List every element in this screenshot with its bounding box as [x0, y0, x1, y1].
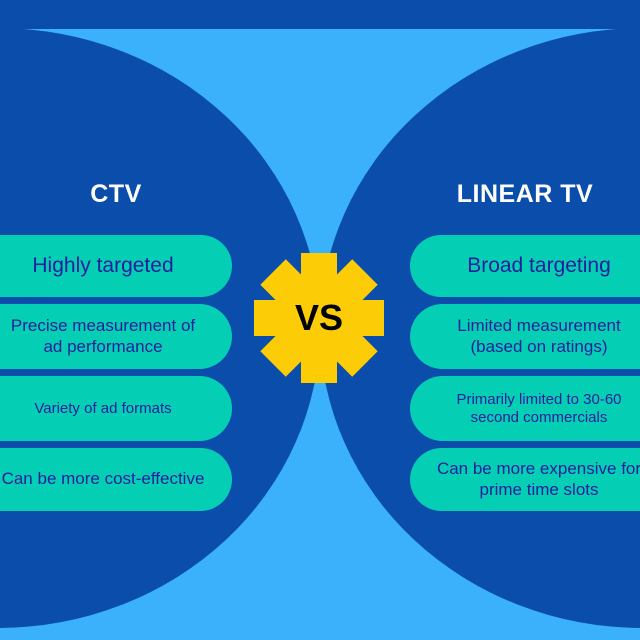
list-item: Primarily limited to 30-60 second commer… [410, 376, 640, 441]
list-item: Can be more expensive for prime time slo… [410, 448, 640, 511]
versus-badge: VS [254, 253, 384, 383]
comparison-infographic: CTV LINEAR TV Highly targeted Precise me… [0, 0, 640, 640]
left-column-list: Highly targeted Precise measurement of a… [0, 235, 232, 511]
right-column-title: LINEAR TV [410, 180, 640, 209]
list-item: Limited measurement (based on ratings) [410, 304, 640, 369]
left-column-title: CTV [0, 180, 232, 209]
list-item: Variety of ad formats [0, 376, 232, 441]
right-column-list: Broad targeting Limited measurement (bas… [410, 235, 640, 511]
list-item: Broad targeting [410, 235, 640, 297]
versus-label: VS [254, 253, 384, 383]
list-item: Highly targeted [0, 235, 232, 297]
list-item: Precise measurement of ad performance [0, 304, 232, 369]
top-banner-strip [0, 0, 640, 29]
list-item: Can be more cost-effective [0, 448, 232, 511]
